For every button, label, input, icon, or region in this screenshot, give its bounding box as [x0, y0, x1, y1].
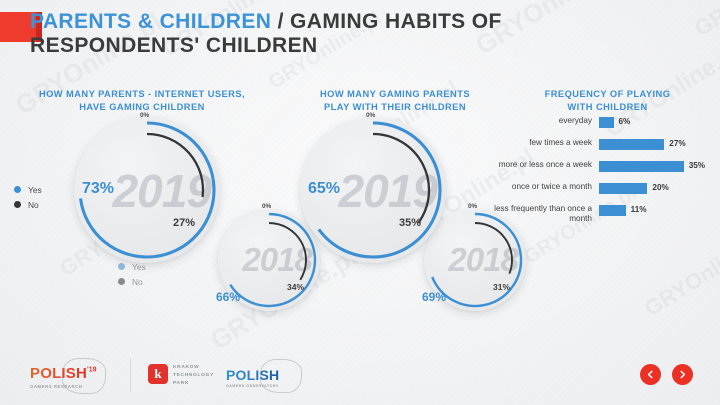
title-rest: GAMING HABITS OF — [290, 10, 502, 33]
donut-value-no: 34% — [287, 282, 304, 292]
bar-value-label: 11% — [631, 205, 647, 214]
watermark-text: GRYOnline.pl — [640, 225, 720, 322]
bar-fill — [599, 183, 647, 194]
bar-row: few times a week27% — [495, 138, 715, 152]
title-highlight: PARENTS & CHILDREN — [30, 10, 271, 33]
legend-secondary-dot-no-icon — [118, 278, 125, 285]
bar-fill — [599, 161, 684, 172]
bar-row: less frequently than once a month11% — [495, 204, 715, 218]
next-slide-button[interactable] — [672, 364, 693, 385]
legend-item-no: No — [14, 197, 42, 212]
bar-fill — [599, 139, 664, 150]
barchart-caption-line-2: WITH CHILDREN — [505, 101, 710, 114]
legend-secondary-label-yes: Yes — [132, 262, 146, 272]
footer: POLISH'19 GAMERS RESEARCH k KRAKOW TECHN… — [0, 352, 720, 405]
donut-zero-label: 0% — [366, 112, 375, 119]
donut-value-no: 35% — [399, 217, 421, 229]
ktp-mark-icon: k — [148, 364, 168, 384]
title-separator: / — [271, 10, 290, 33]
bar-value-label: 20% — [652, 183, 668, 192]
donut-value-no: 27% — [173, 217, 195, 229]
legend-dot-yes-icon — [14, 186, 21, 193]
panel-1-caption-line-1: HOW MANY PARENTS - INTERNET USERS, — [22, 88, 262, 101]
footer-divider — [130, 358, 131, 392]
chevron-right-icon — [678, 370, 687, 379]
bar-fill — [599, 205, 626, 216]
bar-row: once or twice a month20% — [495, 182, 715, 196]
title-line-2: RESPONDENTS' CHILDREN — [30, 34, 650, 58]
donut-arc-no — [373, 134, 429, 223]
donut-zero-label: 0% — [262, 203, 271, 210]
logo-polish-gamers-observatory[interactable]: POLISH GAMERS OBSERVATORY — [222, 357, 312, 395]
barchart-caption-line-1: FREQUENCY OF PLAYING — [505, 88, 710, 101]
donut-value-yes: 73% — [82, 180, 114, 198]
bar-category-label: few times a week — [492, 138, 592, 148]
header: PARENTS & CHILDREN / GAMING HABITS OF RE… — [0, 8, 720, 70]
legend-label-no: No — [28, 200, 39, 210]
donut-value-yes: 66% — [216, 290, 240, 304]
chevron-left-icon — [646, 370, 655, 379]
barchart-caption: FREQUENCY OF PLAYING WITH CHILDREN — [505, 88, 710, 114]
donut-value-yes: 65% — [308, 180, 340, 198]
logo3-subtitle: GAMERS OBSERVATORY — [226, 384, 279, 388]
bar-value-label: 35% — [689, 161, 705, 170]
legend-secondary-item-no: No — [118, 274, 146, 289]
slide-canvas: GRYOnline.plGRYOnline.plGRYOnline.plGRYO… — [0, 0, 720, 405]
donut-zero-label: 0% — [140, 112, 149, 119]
panel-2-caption-line-2: PLAY WITH THEIR CHILDREN — [280, 101, 510, 114]
legend-secondary: Yes No — [118, 259, 146, 289]
logo2-line-1: KRAKOW — [173, 364, 214, 372]
legend-secondary-dot-yes-icon — [118, 263, 125, 270]
bar-category-label: more or less once a week — [492, 160, 592, 170]
panel-2-caption: HOW MANY GAMING PARENTS PLAY WITH THEIR … — [280, 88, 510, 114]
legend-main: Yes No — [14, 182, 42, 212]
ktp-mark-letter: k — [148, 364, 168, 384]
bar-value-label: 6% — [619, 117, 631, 126]
legend-label-yes: Yes — [28, 185, 42, 195]
logo-polish-gamers-research[interactable]: POLISH'19 GAMERS RESEARCH — [22, 356, 122, 396]
bar-fill — [599, 117, 614, 128]
donut-value-yes: 69% — [422, 290, 446, 304]
donut-chart-2019: 20190%73%27% — [74, 117, 220, 263]
legend-dot-no-icon — [14, 201, 21, 208]
prev-slide-button[interactable] — [640, 364, 661, 385]
bar-value-label: 27% — [669, 139, 685, 148]
page-title: PARENTS & CHILDREN / GAMING HABITS OF RE… — [30, 10, 650, 57]
logo1-word: POLISH — [30, 365, 87, 382]
bar-category-label: once or twice a month — [492, 182, 592, 192]
panel-1-caption: HOW MANY PARENTS - INTERNET USERS, HAVE … — [22, 88, 262, 114]
donut-value-no: 31% — [493, 282, 510, 292]
legend-secondary-label-no: No — [132, 277, 143, 287]
logo1-superscript: '19 — [87, 367, 96, 374]
logo1-subtitle: GAMERS RESEARCH — [30, 384, 97, 389]
panel-2-caption-line-1: HOW MANY GAMING PARENTS — [280, 88, 510, 101]
legend-item-yes: Yes — [14, 182, 42, 197]
donut-arc-no — [475, 223, 512, 274]
donut-chart-2019: 20190%65%35% — [300, 117, 446, 263]
logo2-line-3: PARK — [173, 380, 214, 388]
logo3-word: POLISH — [226, 367, 279, 383]
bar-row: everyday6% — [495, 116, 715, 130]
logo2-line-2: TECHNOLOGY — [173, 372, 214, 380]
bar-category-label: everyday — [492, 116, 592, 126]
bar-row: more or less once a week35% — [495, 160, 715, 174]
